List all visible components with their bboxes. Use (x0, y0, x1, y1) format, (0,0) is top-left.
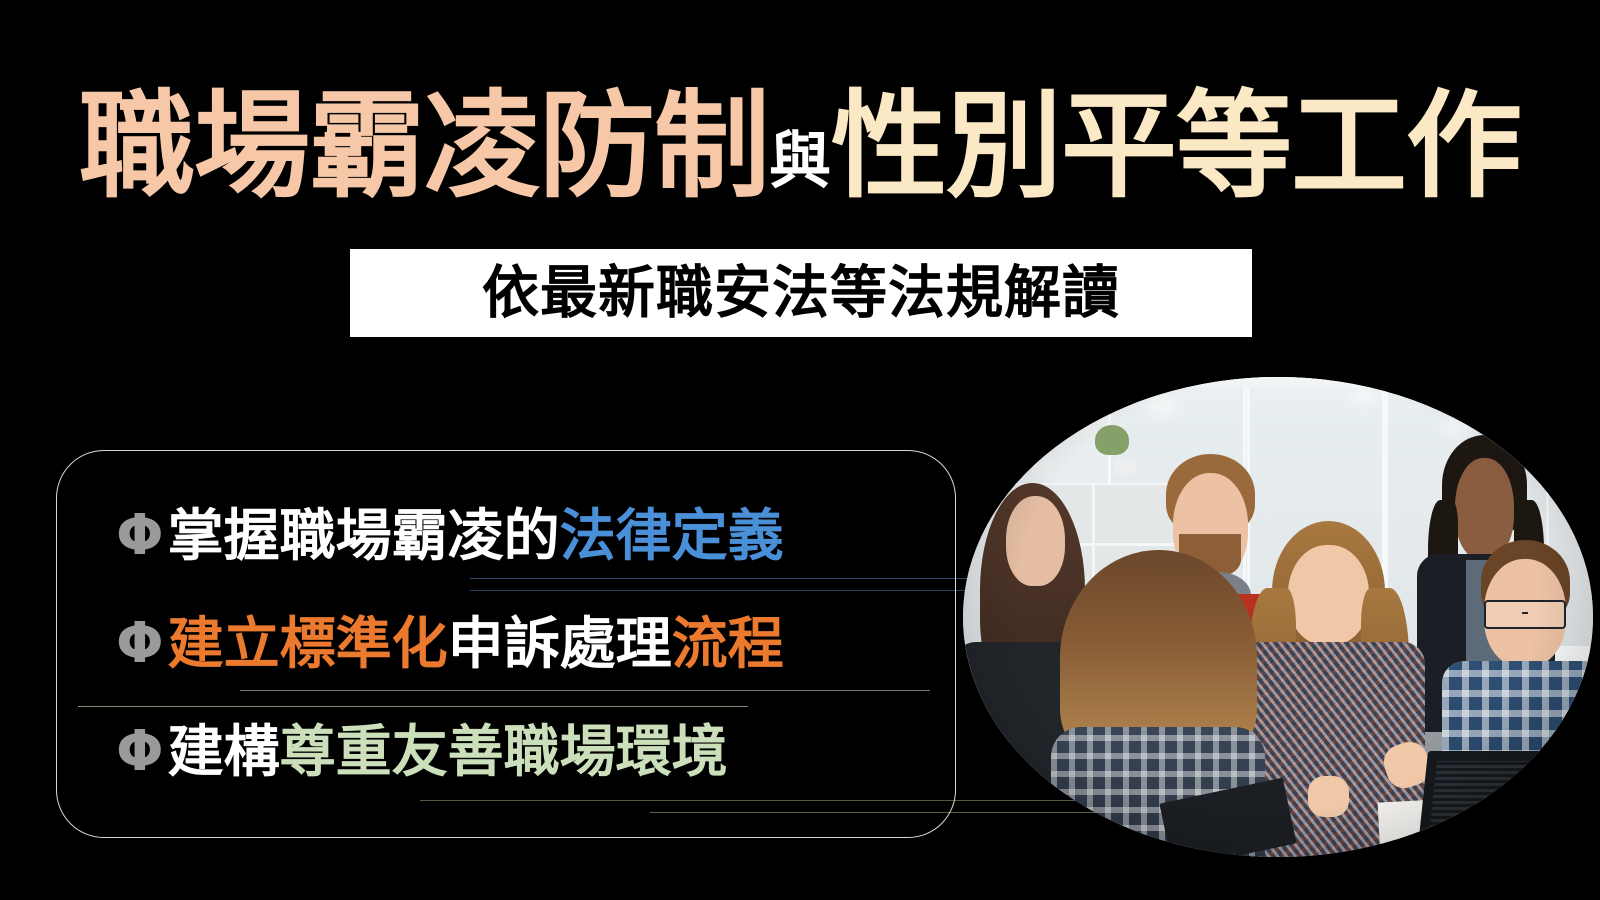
phi-bullet-icon: Φ (116, 724, 164, 780)
phi-bullet-icon: Φ (116, 508, 164, 564)
bullet-2-segment-3: 流程 (672, 616, 784, 672)
photo-vignette (963, 377, 1593, 857)
subtitle-band: 依最新職安法等法規解讀 (350, 249, 1252, 337)
list-item: Φ 掌握職場霸凌的 法律定義 (116, 494, 784, 578)
presentation-slide: 職場霸凌防制與性別平等工作 依最新職安法等法規解讀 Φ 掌握職場霸凌的 法律定義… (0, 0, 1600, 900)
bullet-3-segment-1: 建構 (168, 724, 280, 780)
bullet-1-segment-2: 法律定義 (560, 508, 784, 564)
list-item: Φ 建立標準化 申訴處理 流程 (116, 602, 784, 686)
phi-bullet-icon: Φ (116, 616, 164, 672)
bullet-3-segment-2: 尊重友善職場環境 (280, 724, 728, 780)
title-part-two: 性別平等工作 (831, 81, 1521, 211)
page-title: 職場霸凌防制與性別平等工作 (0, 88, 1600, 204)
bullet-2-segment-1: 建立標準化 (168, 616, 448, 672)
office-meeting-photo (963, 377, 1593, 857)
title-conjunction: 與 (769, 127, 831, 196)
subtitle-text: 依最新職安法等法規解讀 (482, 265, 1120, 322)
bullet-1-segment-1: 掌握職場霸凌的 (168, 508, 560, 564)
bullet-2-segment-2: 申訴處理 (448, 616, 672, 672)
objectives-list: Φ 掌握職場霸凌的 法律定義 Φ 建立標準化 申訴處理 流程 Φ 建構 尊重友善… (56, 450, 956, 838)
title-part-one: 職場霸凌防制 (79, 81, 769, 211)
photo-scene (963, 377, 1593, 857)
list-item: Φ 建構 尊重友善職場環境 (116, 710, 728, 794)
